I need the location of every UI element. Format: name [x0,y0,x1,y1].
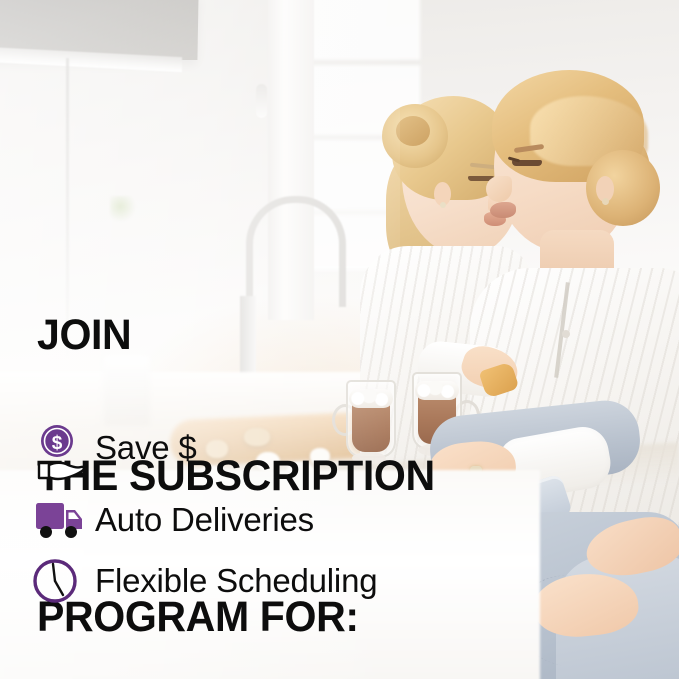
subscription-program-ad: JOIN THE SUBSCRIPTION PROGRAM FOR: $ [0,0,679,679]
ad-content: JOIN THE SUBSCRIPTION PROGRAM FOR: $ [0,0,679,679]
list-item: Flexible Scheduling [30,550,470,612]
svg-text:$: $ [52,433,63,454]
delivery-truck-icon [30,491,90,549]
feature-label: Auto Deliveries [95,501,314,539]
feature-label: Flexible Scheduling [95,562,377,600]
feature-list: $ Save $ [30,414,470,612]
list-item: Auto Deliveries [30,490,470,550]
headline-line-1: JOIN [37,312,435,359]
clock-icon [30,552,90,610]
money-hand-icon: $ [30,423,90,481]
list-item: $ Save $ [30,414,470,490]
feature-label: Save $ [95,429,197,467]
